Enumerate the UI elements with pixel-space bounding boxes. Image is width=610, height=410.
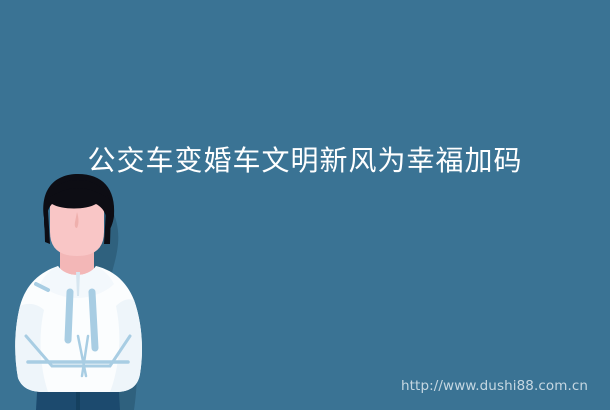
illustration-young-man-in-white-hoodie — [0, 160, 160, 410]
drawstring-left — [68, 292, 70, 340]
poster-canvas: 公交车变婚车文明新风为幸福加码 http://www.dushi88.com.c… — [0, 0, 610, 410]
drawstring-right — [92, 292, 95, 348]
page-title: 公交车变婚车文明新风为幸福加码 — [0, 141, 610, 181]
sideburn-left — [44, 210, 50, 244]
site-watermark-url: http://www.dushi88.com.cn — [401, 378, 588, 395]
